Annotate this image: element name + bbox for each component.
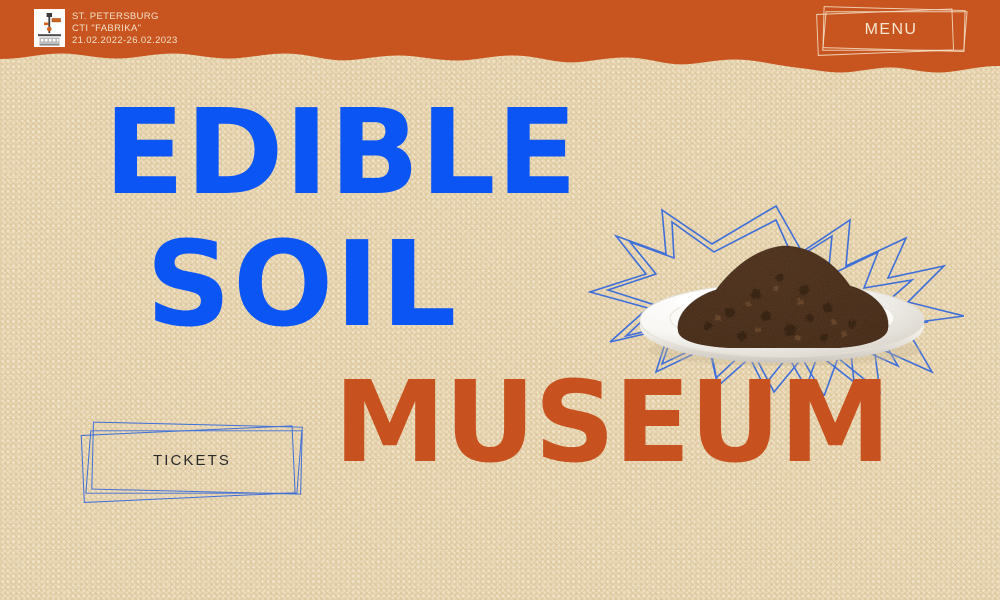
brand-line-city: ST. PETERSBURG bbox=[72, 11, 178, 22]
brand-text-lines: ST. PETERSBURG CTI "FABRIKA" 21.02.2022-… bbox=[72, 9, 178, 46]
brand-line-venue: CTI "FABRIKA" bbox=[72, 23, 178, 34]
brand-line-dates: 21.02.2022-26.02.2023 bbox=[72, 35, 178, 46]
headline-line-museum: MUSEUM bbox=[334, 378, 890, 470]
tickets-button[interactable]: TICKETS bbox=[86, 426, 298, 494]
plate-of-soil-photo bbox=[638, 234, 926, 366]
headline-line-edible: EDIBLE bbox=[104, 104, 578, 201]
menu-button-label: MENU bbox=[820, 9, 962, 51]
brand-block: ST. PETERSBURG CTI "FABRIKA" 21.02.2022-… bbox=[34, 9, 178, 47]
header-content: ST. PETERSBURG CTI "FABRIKA" 21.02.2022-… bbox=[0, 0, 1000, 62]
menu-button[interactable]: MENU bbox=[820, 9, 962, 51]
poster-canvas: EDIBLE SOIL MUSEUM TICKETS bbox=[0, 0, 1000, 600]
tickets-button-label: TICKETS bbox=[86, 426, 298, 494]
headline-line-soil: SOIL bbox=[146, 236, 458, 333]
fabrika-logo bbox=[34, 9, 65, 47]
